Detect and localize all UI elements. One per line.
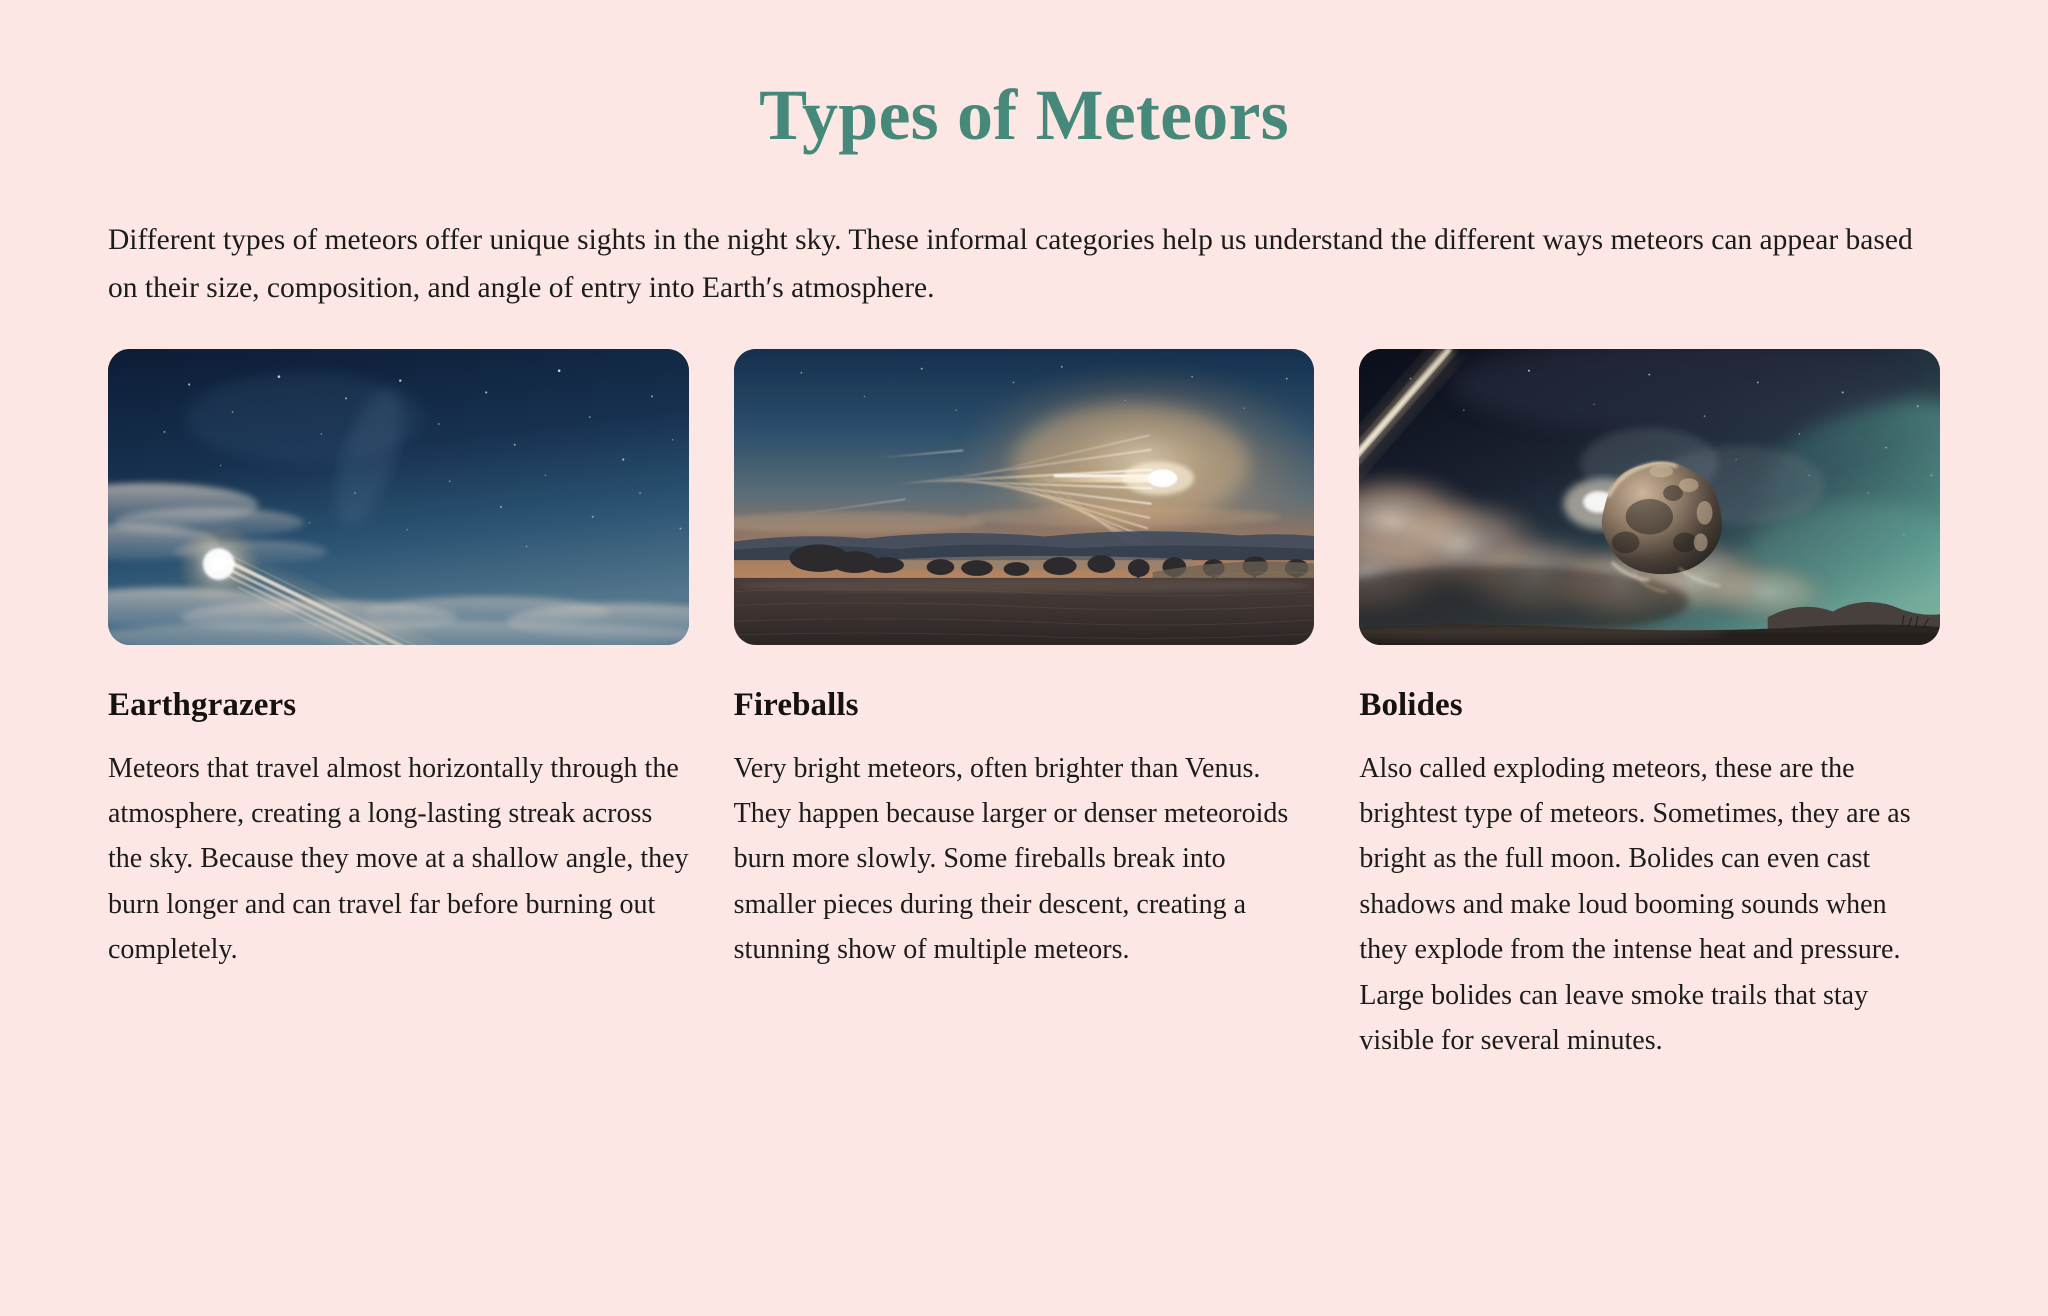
intro-paragraph: Different types of meteors offer unique … <box>108 217 1940 313</box>
fireball-meteor-photo <box>734 349 1315 645</box>
card-body-bolides: Also called exploding meteors, these are… <box>1359 746 1940 1064</box>
meteor-card-fireballs: Fireballs Very bright meteors, often bri… <box>734 349 1315 1064</box>
meteor-card-grid: Earthgrazers Meteors that travel almost … <box>108 349 1940 1064</box>
page-root: Types of Meteors Different types of mete… <box>0 0 2048 1316</box>
card-body-fireballs: Very bright meteors, often brighter than… <box>734 746 1315 973</box>
earthgrazer-meteor-photo <box>108 349 689 645</box>
bolide-meteor-photo <box>1359 349 1940 645</box>
card-body-earthgrazers: Meteors that travel almost horizontally … <box>108 746 689 973</box>
meteor-card-bolides: Bolides Also called exploding meteors, t… <box>1359 349 1940 1064</box>
card-title-earthgrazers: Earthgrazers <box>108 687 689 724</box>
page-title: Types of Meteors <box>108 0 1940 155</box>
card-title-fireballs: Fireballs <box>734 687 1315 724</box>
meteor-card-earthgrazers: Earthgrazers Meteors that travel almost … <box>108 349 689 1064</box>
card-title-bolides: Bolides <box>1359 687 1940 724</box>
